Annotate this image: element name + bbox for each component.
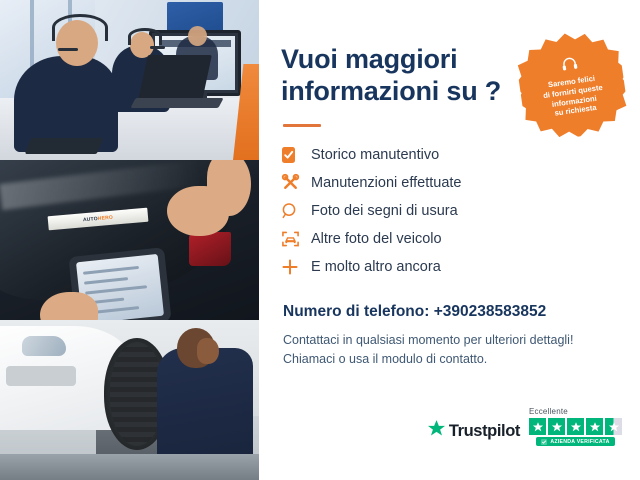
car-inspection-ruler-photo: AUTOHERO	[0, 160, 259, 320]
magnifier-icon	[281, 202, 311, 220]
status-badge: Saremo felici di fornirti queste informa…	[513, 26, 630, 143]
trustpilot-star-icon	[427, 419, 446, 443]
star-icon	[567, 418, 584, 435]
feature-label: E molto altro ancora	[311, 259, 441, 275]
list-item: Foto dei segni di usura	[281, 197, 640, 225]
feature-list: Storico manutentivo Manutenzi	[281, 141, 640, 281]
trustpilot-wordmark: Trustpilot	[449, 422, 520, 441]
list-item: Storico manutentivo	[281, 141, 640, 169]
title-divider	[283, 124, 321, 127]
verified-check-icon	[541, 439, 547, 445]
page-title-line2: informazioni su ?	[281, 76, 501, 106]
verified-company-badge: AZIENDA VERIFICATA	[536, 437, 614, 446]
rating-label: Eccellente	[529, 407, 568, 416]
headset-icon	[560, 55, 580, 77]
verified-label: AZIENDA VERIFICATA	[550, 439, 609, 445]
technician-wheel-photo	[0, 320, 259, 480]
page-title: Vuoi maggiori informazioni su ?	[281, 44, 521, 108]
checklist-icon	[281, 146, 311, 164]
car-photo-scan-icon	[281, 230, 311, 248]
phone-number[interactable]: Numero di telefono: +390238583852	[283, 303, 640, 321]
trustpilot-logo: Trustpilot	[427, 419, 520, 446]
contact-description-line1: Contattaci in qualsiasi momento per ulte…	[283, 333, 573, 347]
tools-icon	[281, 173, 311, 192]
plus-icon	[281, 258, 311, 276]
star-rating	[529, 418, 622, 435]
badge-text: Saremo felici di fornirti queste informa…	[541, 73, 606, 120]
star-icon	[548, 418, 565, 435]
feature-label: Storico manutentivo	[311, 147, 439, 163]
list-item: Altre foto del veicolo	[281, 225, 640, 253]
star-icon	[529, 418, 546, 435]
star-icon	[586, 418, 603, 435]
contact-description-line2: Chiamaci o usa il modulo di contatto.	[283, 352, 487, 366]
photo-column: AUTOHERO	[0, 0, 259, 480]
promo-banner: AUTOHERO	[0, 0, 640, 480]
page-title-line1: Vuoi maggiori	[281, 44, 457, 74]
feature-label: Foto dei segni di usura	[311, 203, 458, 219]
star-icon-partial	[605, 418, 622, 435]
list-item: Manutenzioni effettuate	[281, 169, 640, 197]
feature-label: Altre foto del veicolo	[311, 231, 442, 247]
list-item: E molto altro ancora	[281, 253, 640, 281]
content-column: Vuoi maggiori informazioni su ? Storico …	[259, 0, 640, 480]
trustpilot-widget[interactable]: Trustpilot Eccellente	[427, 407, 622, 446]
call-center-agents-photo	[0, 0, 259, 160]
feature-label: Manutenzioni effettuate	[311, 175, 461, 191]
contact-description: Contattaci in qualsiasi momento per ulte…	[283, 331, 640, 370]
